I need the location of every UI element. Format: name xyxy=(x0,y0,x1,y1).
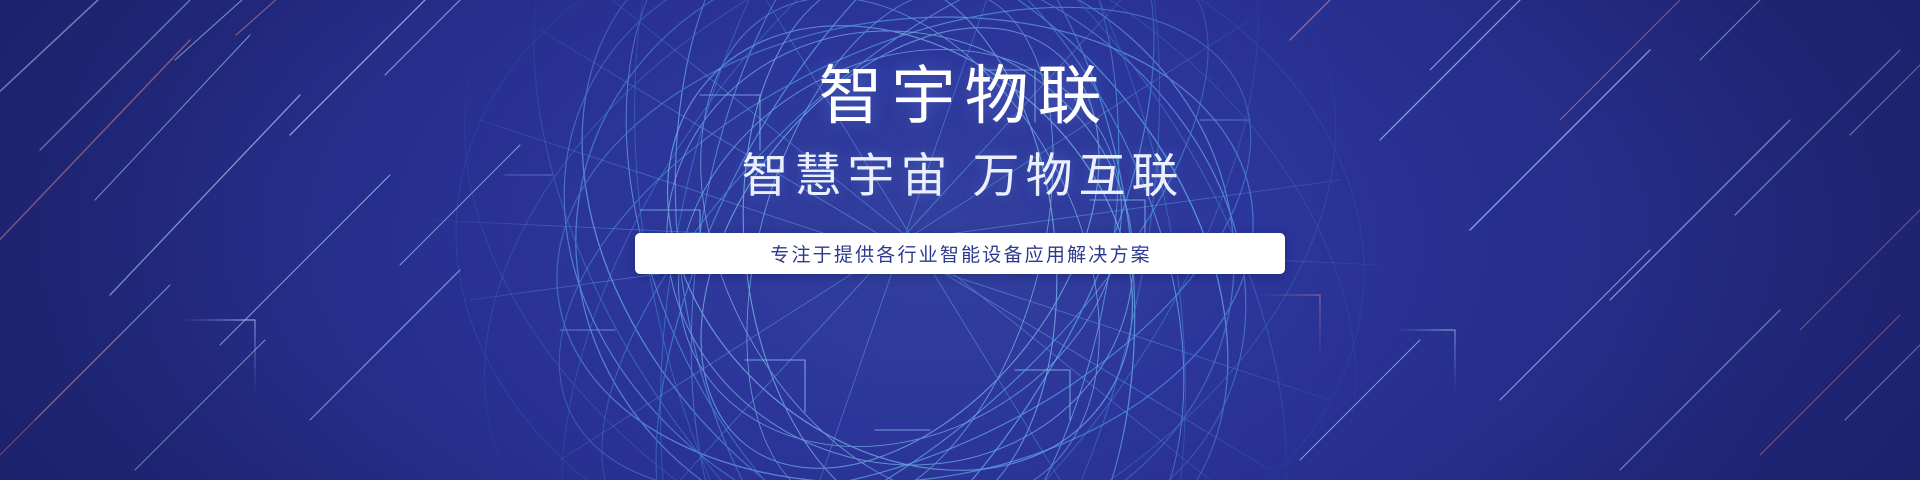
hero-banner: 智宇物联 智慧宇宙 万物互联 专注于提供各行业智能设备应用解决方案 xyxy=(0,0,1920,480)
banner-subtitle: 智慧宇宙 万物互联 xyxy=(735,152,1184,199)
tagline-text: 专注于提供各行业智能设备应用解决方案 xyxy=(768,240,1152,267)
banner-title: 智宇物联 xyxy=(810,64,1111,128)
tagline-bar: 专注于提供各行业智能设备应用解决方案 xyxy=(635,233,1285,274)
banner-content: 智宇物联 智慧宇宙 万物互联 专注于提供各行业智能设备应用解决方案 xyxy=(0,0,1920,480)
